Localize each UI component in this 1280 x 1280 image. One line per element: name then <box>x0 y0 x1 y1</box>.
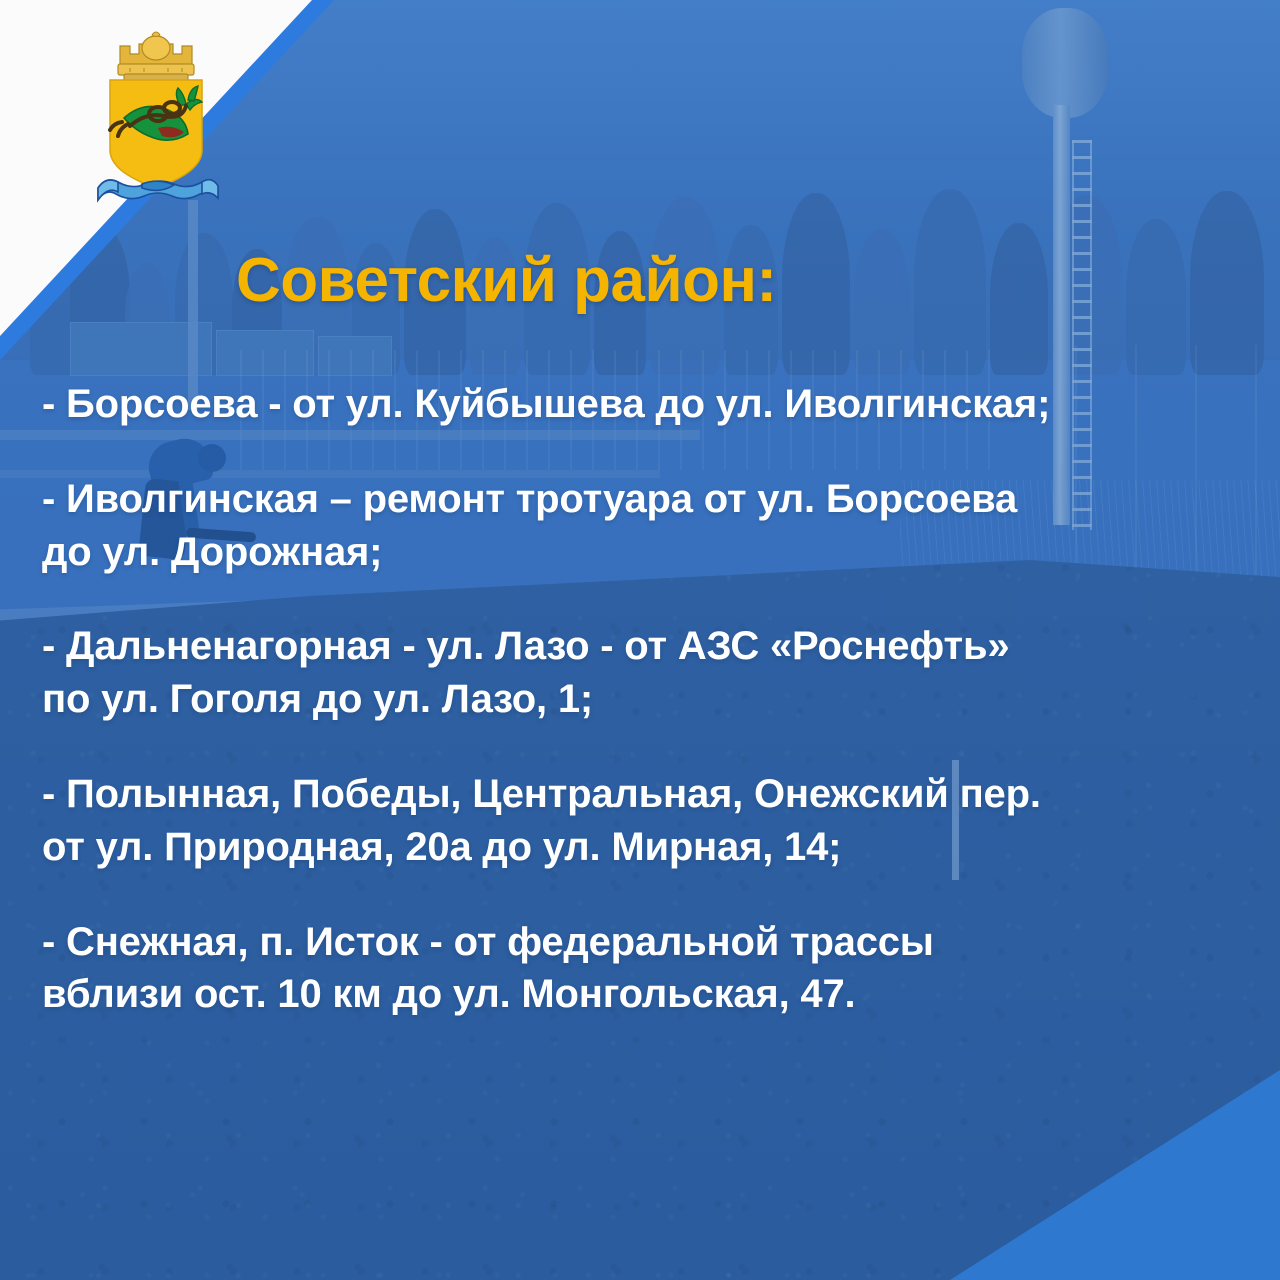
poster-canvas: Советский район: - Борсоева - от ул. Куй… <box>0 0 1280 1280</box>
list-item-line: - Борсоева - от ул. Куйбышева до ул. Иво… <box>42 378 1280 431</box>
list-item: - Снежная, п. Исток - от федеральной тра… <box>0 916 1280 1022</box>
list-item: - Дальненагорная - ул. Лазо - от АЗС «Ро… <box>0 620 1280 726</box>
list-item-line: по ул. Гоголя до ул. Лазо, 1; <box>42 673 1280 726</box>
list-item-line: - Иволгинская – ремонт тротуара от ул. Б… <box>42 473 1280 526</box>
list-item-line: - Снежная, п. Исток - от федеральной тра… <box>42 916 1280 969</box>
list-item: - Иволгинская – ремонт тротуара от ул. Б… <box>0 473 1280 579</box>
list-item: - Борсоева - от ул. Куйбышева до ул. Иво… <box>0 378 1280 431</box>
list-item-line: - Полынная, Победы, Центральная, Онежски… <box>42 768 1280 821</box>
list-item-line: - Дальненагорная - ул. Лазо - от АЗС «Ро… <box>42 620 1280 673</box>
ulan-ude-coat-of-arms-icon <box>84 22 228 214</box>
street-list: - Борсоева - от ул. Куйбышева до ул. Иво… <box>0 378 1280 1021</box>
page-title: Советский район: <box>236 245 777 316</box>
list-item-line: до ул. Дорожная; <box>42 526 1280 579</box>
list-item: - Полынная, Победы, Центральная, Онежски… <box>0 768 1280 874</box>
list-item-line: вблизи ост. 10 км до ул. Монгольская, 47… <box>42 968 1280 1021</box>
list-item-line: от ул. Природная, 20а до ул. Мирная, 14; <box>42 821 1280 874</box>
